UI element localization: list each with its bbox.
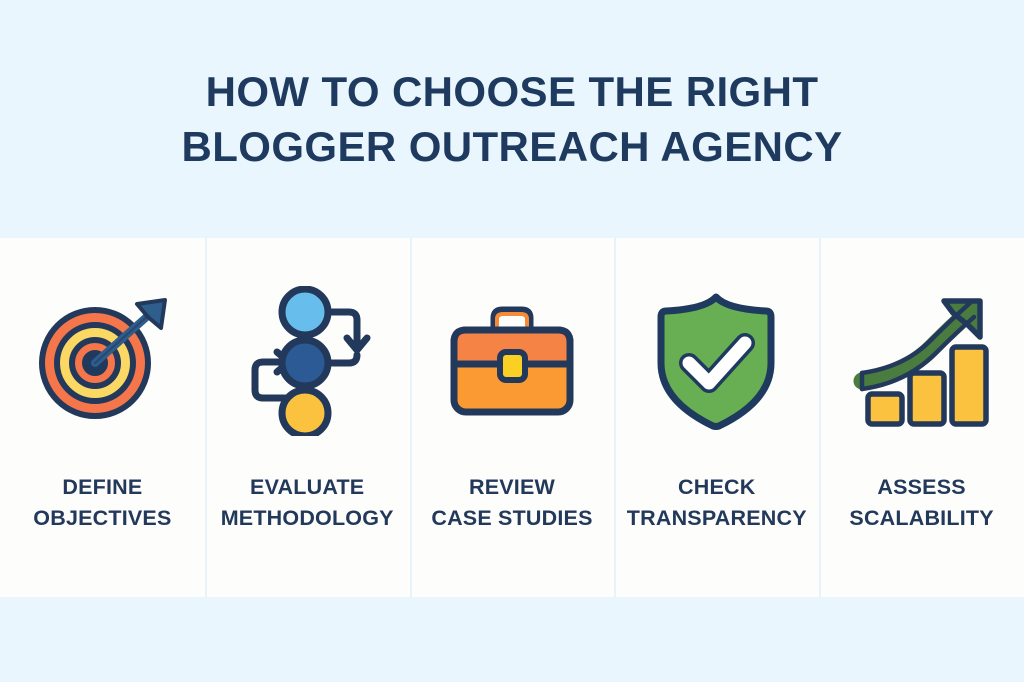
target-arrow-icon [27,286,177,436]
step-label-line-2: SCALABILITY [849,503,993,534]
infographic-root: HOW TO CHOOSE THE RIGHT BLOGGER OUTREACH… [0,0,1024,682]
page-title: HOW TO CHOOSE THE RIGHT BLOGGER OUTREACH… [0,64,1024,175]
step-label-line-1: ASSESS [849,472,993,503]
step-label-line-1: CHECK [627,472,807,503]
step-label: EVALUATE METHODOLOGY [217,472,398,533]
step-label-line-1: EVALUATE [221,472,394,503]
step-card-define-objectives: DEFINE OBJECTIVES [0,238,205,597]
step-label: DEFINE OBJECTIVES [29,472,175,533]
step-card-evaluate-methodology: EVALUATE METHODOLOGY [205,238,410,597]
title-block: HOW TO CHOOSE THE RIGHT BLOGGER OUTREACH… [0,0,1024,175]
step-card-check-transparency: CHECK TRANSPARENCY [614,238,819,597]
step-label-line-1: DEFINE [33,472,171,503]
step-label-line-2: TRANSPARENCY [627,503,807,534]
page-title-line-1: HOW TO CHOOSE THE RIGHT [0,64,1024,119]
step-card-assess-scalability: ASSESS SCALABILITY [819,238,1024,597]
step-label: CHECK TRANSPARENCY [623,472,811,533]
shield-check-icon [642,286,792,436]
step-label-line-2: METHODOLOGY [221,503,394,534]
step-label: ASSESS SCALABILITY [845,472,997,533]
flowchart-icon [232,286,382,436]
briefcase-icon [437,286,587,436]
steps-strip: DEFINE OBJECTIVES [0,238,1024,597]
step-label-line-2: OBJECTIVES [33,503,171,534]
growth-chart-icon [847,286,997,436]
step-label: REVIEW CASE STUDIES [427,472,596,533]
page-title-line-2: BLOGGER OUTREACH AGENCY [0,119,1024,174]
step-card-review-case-studies: REVIEW CASE STUDIES [410,238,615,597]
step-label-line-2: CASE STUDIES [431,503,592,534]
step-label-line-1: REVIEW [431,472,592,503]
